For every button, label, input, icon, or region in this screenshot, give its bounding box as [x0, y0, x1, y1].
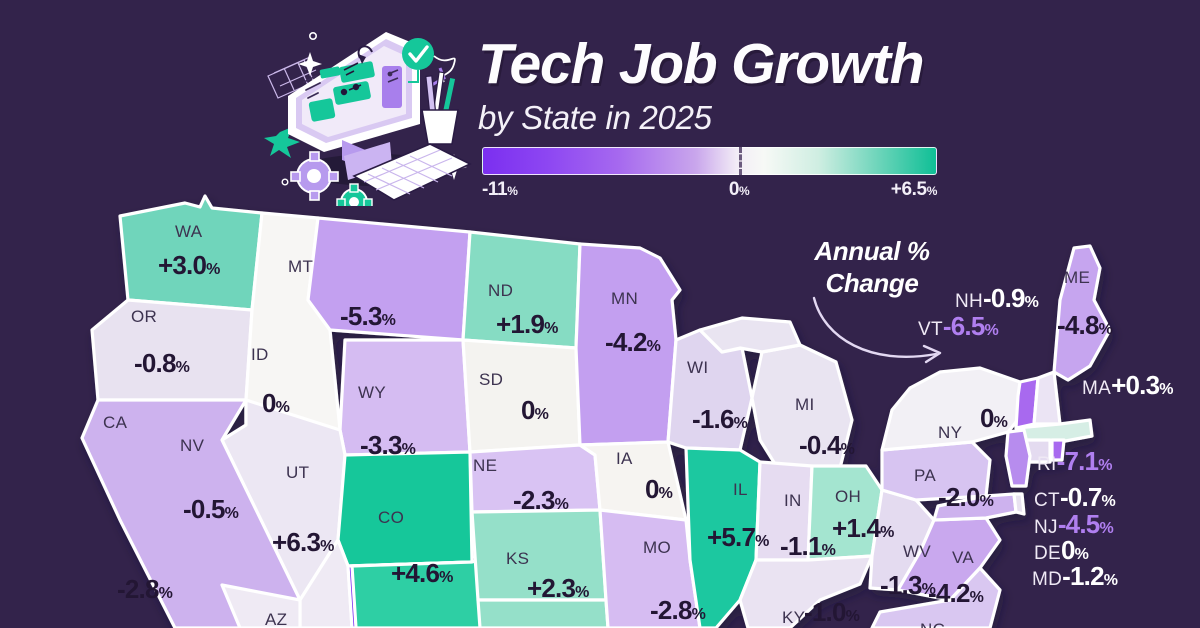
legend-gradient-bar	[482, 147, 937, 175]
annotation-annual-change: Annual % Change	[787, 236, 957, 299]
callout-abbr-CT: CT	[1034, 490, 1060, 511]
legend-zero-tick	[739, 147, 742, 175]
state-shape-ME	[1054, 246, 1110, 380]
dot-decor-3	[282, 179, 288, 185]
state-shape-OH	[808, 466, 882, 560]
legend-max-label: +6.5%	[891, 179, 937, 201]
pencil-cup	[422, 68, 458, 144]
state-shape-NH	[1034, 372, 1060, 424]
monitor	[288, 32, 420, 152]
callout-VT: VT-6.5%	[918, 311, 998, 342]
page-subtitle: by State in 2025	[478, 99, 998, 137]
legend-mid-label: 0%	[729, 179, 749, 201]
page-title: Tech Job Growth	[478, 36, 998, 93]
header-block: Tech Job Growth by State in 2025	[478, 36, 998, 137]
state-shape-NJ	[1006, 430, 1030, 486]
callout-value-NH: -0.9%	[983, 283, 1038, 313]
state-shape-UT	[338, 452, 472, 566]
callout-abbr-VT: VT	[918, 319, 943, 340]
callout-value-VT: -6.5%	[943, 311, 998, 341]
dot-decor	[310, 33, 316, 39]
state-shape-CO	[352, 560, 482, 628]
callout-NH: NH-0.9%	[955, 283, 1038, 314]
state-shape-ND	[463, 232, 580, 348]
workstation-illustration	[258, 24, 478, 206]
state-shape-MO	[600, 510, 700, 628]
callout-abbr-MA: MA	[1082, 378, 1111, 399]
gear-icon-small	[337, 184, 372, 206]
state-shape-IN	[756, 462, 812, 560]
color-scale-legend: -11% 0% +6.5%	[482, 147, 937, 203]
check-badge	[402, 38, 434, 70]
callout-abbr-NH: NH	[955, 291, 983, 312]
state-shape-WY	[340, 340, 470, 455]
callout-MD: MD-1.2%	[1032, 561, 1117, 592]
state-shape-OR	[92, 300, 252, 400]
legend-tick-labels: -11% 0% +6.5%	[482, 179, 937, 203]
screen-dot	[388, 72, 393, 77]
legend-min-label: -11%	[482, 179, 518, 201]
state-shape-MI-up	[700, 318, 800, 352]
callout-value-RI: -7.1%	[1057, 446, 1112, 476]
callout-abbr-MD: MD	[1032, 569, 1062, 590]
state-shape-MT	[308, 218, 470, 340]
callout-value-MA: +0.3%	[1111, 370, 1173, 400]
callout-MA: MA+0.3%	[1082, 370, 1173, 401]
state-shape-NY	[882, 368, 1024, 450]
infographic-canvas: Tech Job Growth by State in 2025 -11% 0%…	[0, 0, 1200, 628]
callout-value-MD: -1.2%	[1062, 561, 1117, 591]
annotation-line-2: Change	[787, 268, 957, 300]
callout-value-CT: -0.7%	[1060, 482, 1115, 512]
callout-RI: RI-7.1%	[1037, 446, 1112, 477]
annotation-line-1: Annual %	[787, 236, 957, 268]
state-shape-WA	[120, 196, 262, 310]
sparkle-icon	[298, 52, 322, 76]
state-shape-SD	[463, 340, 580, 452]
state-shape-KS	[472, 510, 606, 600]
state-shape-KS2	[478, 600, 608, 628]
state-shape-MN	[576, 244, 680, 445]
state-shape-KY	[740, 556, 872, 628]
state-shape-NE	[470, 445, 600, 512]
callout-abbr-RI: RI	[1037, 454, 1057, 475]
state-shape-PA	[882, 442, 990, 500]
state-shape-DE	[1014, 494, 1024, 514]
